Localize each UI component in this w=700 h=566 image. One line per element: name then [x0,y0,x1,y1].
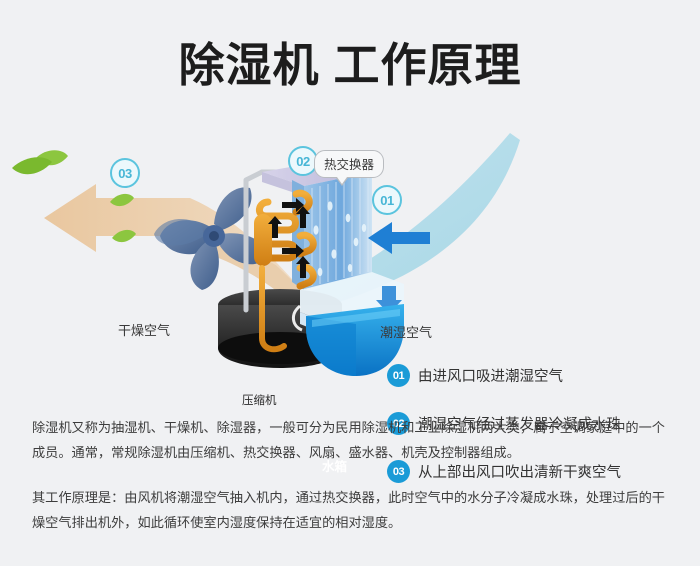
description-body: 除湿机又称为抽湿机、干燥机、除湿器，一般可分为民用除湿机和工业除湿机两大类，属于… [32,415,672,535]
page-title: 除湿机工作原理 [0,36,700,94]
label-humid-air: 潮湿空气 [380,322,432,341]
dehumidifier-diagram: 03 02 01 热交换器 干燥空气 潮湿空气 压缩机 水箱 01 由进风口吸进… [0,110,700,395]
step-item: 01 由进风口吸进潮湿空气 [388,365,688,386]
title-part-2: 工作原理 [334,39,522,91]
step-badge-01: 01 [388,365,409,386]
diagram-marker-01: 01 [372,185,402,215]
label-compressor: 压缩机 [242,392,277,408]
infographic-page: 除湿机工作原理 [0,0,700,566]
paragraph-1: 除湿机又称为抽湿机、干燥机、除湿器，一般可分为民用除湿机和工业除湿机两大类，属于… [32,415,672,465]
label-dry-air: 干燥空气 [118,320,170,339]
step-text-01: 由进风口吸进潮湿空气 [418,365,563,386]
heat-exchanger-callout: 热交换器 [314,150,384,178]
paragraph-2: 其工作原理是：由风机将潮湿空气抽入机内，通过热交换器，此时空气中的水分子冷凝成水… [32,485,672,535]
diagram-marker-03: 03 [110,158,140,188]
title-part-1: 除湿机 [179,39,320,91]
